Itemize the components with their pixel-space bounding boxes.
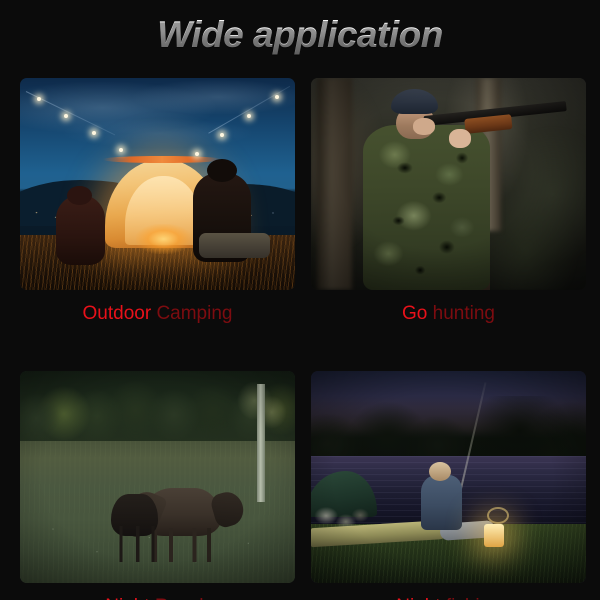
fishing-vignette [311,371,586,583]
ranch-vignette [20,371,295,583]
grid-row-2: Night Ranch [20,371,585,600]
caption-word-secondary: hunting [433,303,495,324]
photo-outdoor-camping [20,78,295,290]
string-light-bulb [195,152,199,156]
string-light-bulb [119,148,123,152]
photo-night-fishing [311,371,586,583]
application-grid: Outdoor Camping [20,78,585,600]
string-light-bulb [64,114,68,118]
string-light-bulb [92,131,96,135]
cell-outdoor-camping[interactable]: Outdoor Camping [20,78,295,326]
cell-night-fishing[interactable]: Night fishing [311,371,586,600]
cell-go-hunting[interactable]: Go hunting [311,78,586,326]
string-light-bulb [247,114,251,118]
caption-outdoor-camping: Outdoor Camping [20,302,295,326]
grid-row-1: Outdoor Camping [20,78,585,326]
caption-word-primary: Night [396,596,440,600]
page-title-wrap: Wide application [0,14,600,56]
hunting-vignette [311,78,586,290]
caption-word-primary: Outdoor [83,303,152,324]
wide-application-poster: Wide application [0,0,600,600]
photo-go-hunting [311,78,586,290]
caption-word-secondary: fishing [446,596,501,600]
string-light-bulb [37,97,41,101]
string-light-bulb [275,95,279,99]
caption-word-primary: Go [402,303,427,324]
caption-word-secondary: Camping [156,303,232,324]
photo-night-ranch [20,371,295,583]
caption-word-secondary: Ranch [155,596,210,600]
caption-word-primary: Night [105,596,149,600]
camping-string-lights [20,78,295,290]
string-light-wire-right [208,87,289,135]
cell-night-ranch[interactable]: Night Ranch [20,371,295,600]
string-light-bulb [220,133,224,137]
caption-go-hunting: Go hunting [311,302,586,326]
caption-night-ranch: Night Ranch [20,595,295,600]
caption-night-fishing: Night fishing [311,595,586,600]
page-title: Wide application [157,14,443,56]
